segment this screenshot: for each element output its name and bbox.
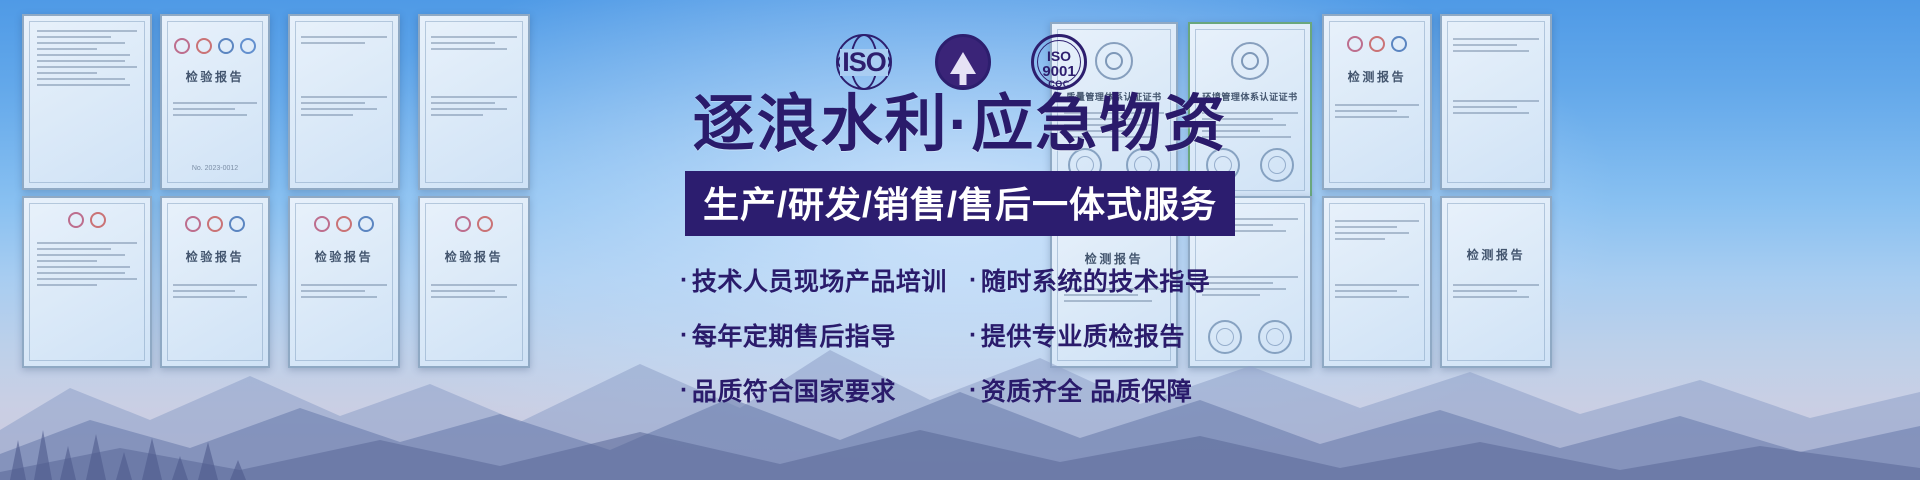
- promotional-banner: 检验报告 No. 2023-0012 质量管理体系认证证书 环境管: [0, 0, 1920, 480]
- certification-emblem-icon: [1231, 42, 1269, 80]
- certificate-text-lines: [1453, 38, 1539, 56]
- certification-emblem-icon: [1095, 42, 1133, 80]
- certificate-text-lines: [37, 30, 138, 90]
- feature-item: · 品质符合国家要求: [680, 372, 951, 408]
- certificate-thumb: 检测报告: [1322, 14, 1432, 190]
- certificate-accreditation-logos: [1324, 36, 1430, 52]
- certificate-title: 检验报告: [420, 248, 528, 265]
- iso9001-cqc-badge: ISO 9001 CQC QUALITY MANAGEMENT: [1031, 34, 1087, 90]
- bullet-icon: ·: [969, 321, 978, 350]
- certificate-accreditation-logos: [24, 212, 150, 228]
- certificate-thumb: 检验报告 No. 2023-0012: [160, 14, 270, 190]
- certificate-title: 检验报告: [290, 248, 398, 265]
- certificate-accreditation-logos: [162, 216, 268, 232]
- certificate-thumb: [1440, 14, 1552, 190]
- certificate-title: 检测报告: [1324, 68, 1430, 85]
- certificate-title: 检验报告: [162, 68, 268, 85]
- certificate-title: 检测报告: [1442, 246, 1550, 263]
- bullet-icon: ·: [680, 321, 689, 350]
- bullet-icon: ·: [680, 376, 689, 405]
- iso-globe-badge: ISO: [833, 36, 895, 88]
- certificate-accreditation-logos: [290, 216, 398, 232]
- certificate-thumb: [418, 14, 530, 190]
- certificate-thumb: [288, 14, 400, 190]
- feature-label: 每年定期售后指导: [692, 317, 896, 353]
- certificate-text-lines: [301, 96, 387, 120]
- feature-label: 资质齐全 品质保障: [981, 372, 1192, 408]
- certificate-text-lines: [431, 96, 517, 120]
- bullet-icon: ·: [969, 266, 978, 295]
- certificate-text-lines: [1335, 220, 1420, 244]
- feature-item: · 提供专业质检报告: [969, 317, 1240, 353]
- certificate-text-lines: [1453, 100, 1539, 118]
- certificate-text-lines: [173, 102, 258, 120]
- badge-inner-ring: [1037, 40, 1081, 84]
- iso-badge-label: ISO: [840, 49, 888, 76]
- feature-list: · 技术人员现场产品培训 · 随时系统的技术指导 · 每年定期售后指导 · 提供…: [680, 262, 1240, 408]
- certificate-title: 检验报告: [162, 248, 268, 265]
- certificate-accreditation-logos: [420, 216, 528, 232]
- feature-label: 品质符合国家要求: [692, 372, 896, 408]
- bullet-icon: ·: [969, 376, 978, 405]
- certificate-text-lines: [431, 36, 517, 54]
- iso14000-badge: ISO14000 环境认证: [935, 34, 991, 90]
- feature-item: · 资质齐全 品质保障: [969, 372, 1240, 408]
- certificate-text-lines: [1335, 104, 1420, 122]
- feature-label: 提供专业质检报告: [981, 317, 1185, 353]
- certification-badge-row: ISO ISO14000 环境认证 ISO 9001 CQC QUALITY M…: [833, 34, 1087, 90]
- certificate-thumb: [22, 14, 152, 190]
- certificate-text-lines: [301, 36, 387, 48]
- feature-label: 随时系统的技术指导: [981, 262, 1211, 298]
- feature-item: · 每年定期售后指导: [680, 317, 951, 353]
- banner-content: 逐浪水利·应急物资 生产/研发/销售/售后一体式服务 · 技术人员现场产品培训 …: [610, 92, 1310, 408]
- main-title: 逐浪水利·应急物资: [610, 92, 1310, 157]
- subtitle-bar: 生产/研发/销售/售后一体式服务: [685, 171, 1235, 236]
- feature-item: · 随时系统的技术指导: [969, 262, 1240, 298]
- certificate-subtitle: No. 2023-0012: [162, 165, 268, 172]
- bullet-icon: ·: [680, 266, 689, 295]
- feature-item: · 技术人员现场产品培训: [680, 262, 951, 298]
- certificate-accreditation-logos: [162, 38, 268, 54]
- feature-label: 技术人员现场产品培训: [692, 262, 947, 298]
